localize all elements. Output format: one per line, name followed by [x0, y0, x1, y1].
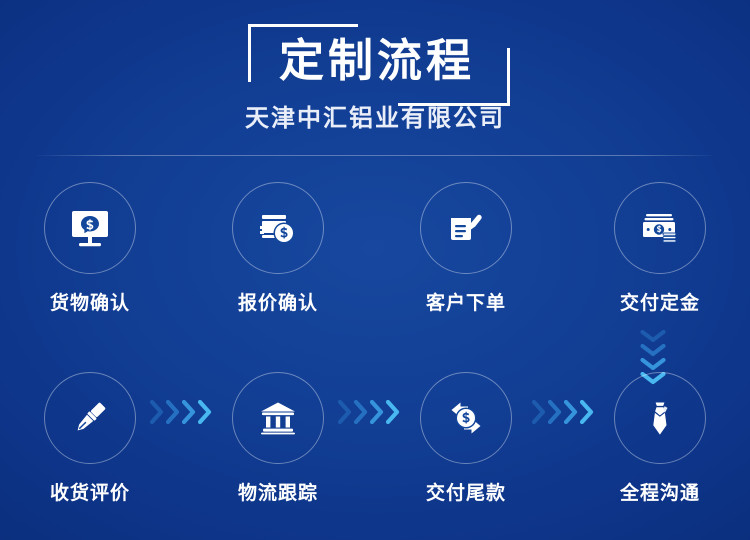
banner-header: 定制流程 天津中汇铝业有限公司 [0, 0, 750, 155]
step-label: 物流跟踪 [208, 478, 348, 505]
title-block: 定制流程 [248, 26, 506, 96]
flow-step-full-communication[interactable]: 全程沟通 [590, 372, 730, 505]
step-icon-circle [614, 372, 706, 464]
step-label: 报价确认 [208, 288, 348, 315]
monitor-customer-icon [65, 203, 115, 253]
step-icon-circle [614, 182, 706, 274]
order-form-pen-icon [441, 203, 491, 253]
step-icon-circle [420, 372, 512, 464]
header-divider [37, 155, 713, 156]
fountain-pen-icon [65, 393, 115, 443]
step-label: 交付定金 [590, 288, 730, 315]
flow-row-two: 收货评价 [0, 372, 750, 512]
step-icon-circle [44, 372, 136, 464]
step-label: 货物确认 [20, 288, 160, 315]
step-icon-circle [232, 182, 324, 274]
flow-step-customer-order[interactable]: 客户下单 [396, 182, 536, 315]
flow-step-receipt-review[interactable]: 收货评价 [20, 372, 160, 505]
money-exchange-icon [441, 393, 491, 443]
cash-banknote-icon [635, 203, 685, 253]
flow-step-deposit-payment[interactable]: 交付定金 [590, 182, 730, 315]
flow-row-one: 货物确认 [0, 182, 750, 322]
step-icon-circle [44, 182, 136, 274]
promo-banner: 定制流程 天津中汇铝业有限公司 货物确认 [0, 0, 750, 540]
step-label: 客户下单 [396, 288, 536, 315]
flow-step-final-payment[interactable]: 交付尾款 [396, 372, 536, 505]
flow-step-quotation-confirmation[interactable]: 报价确认 [208, 182, 348, 315]
company-subtitle: 天津中汇铝业有限公司 [0, 98, 750, 133]
step-label: 全程沟通 [590, 478, 730, 505]
step-icon-circle [232, 372, 324, 464]
bank-building-icon [253, 393, 303, 443]
flow-step-goods-confirmation[interactable]: 货物确认 [20, 182, 160, 315]
step-label: 收货评价 [20, 478, 160, 505]
invoice-coin-icon [253, 203, 303, 253]
page-title: 定制流程 [248, 26, 506, 96]
step-label: 交付尾款 [396, 478, 536, 505]
step-icon-circle [420, 182, 512, 274]
flow-step-logistics-tracking[interactable]: 物流跟踪 [208, 372, 348, 505]
necktie-icon [635, 393, 685, 443]
